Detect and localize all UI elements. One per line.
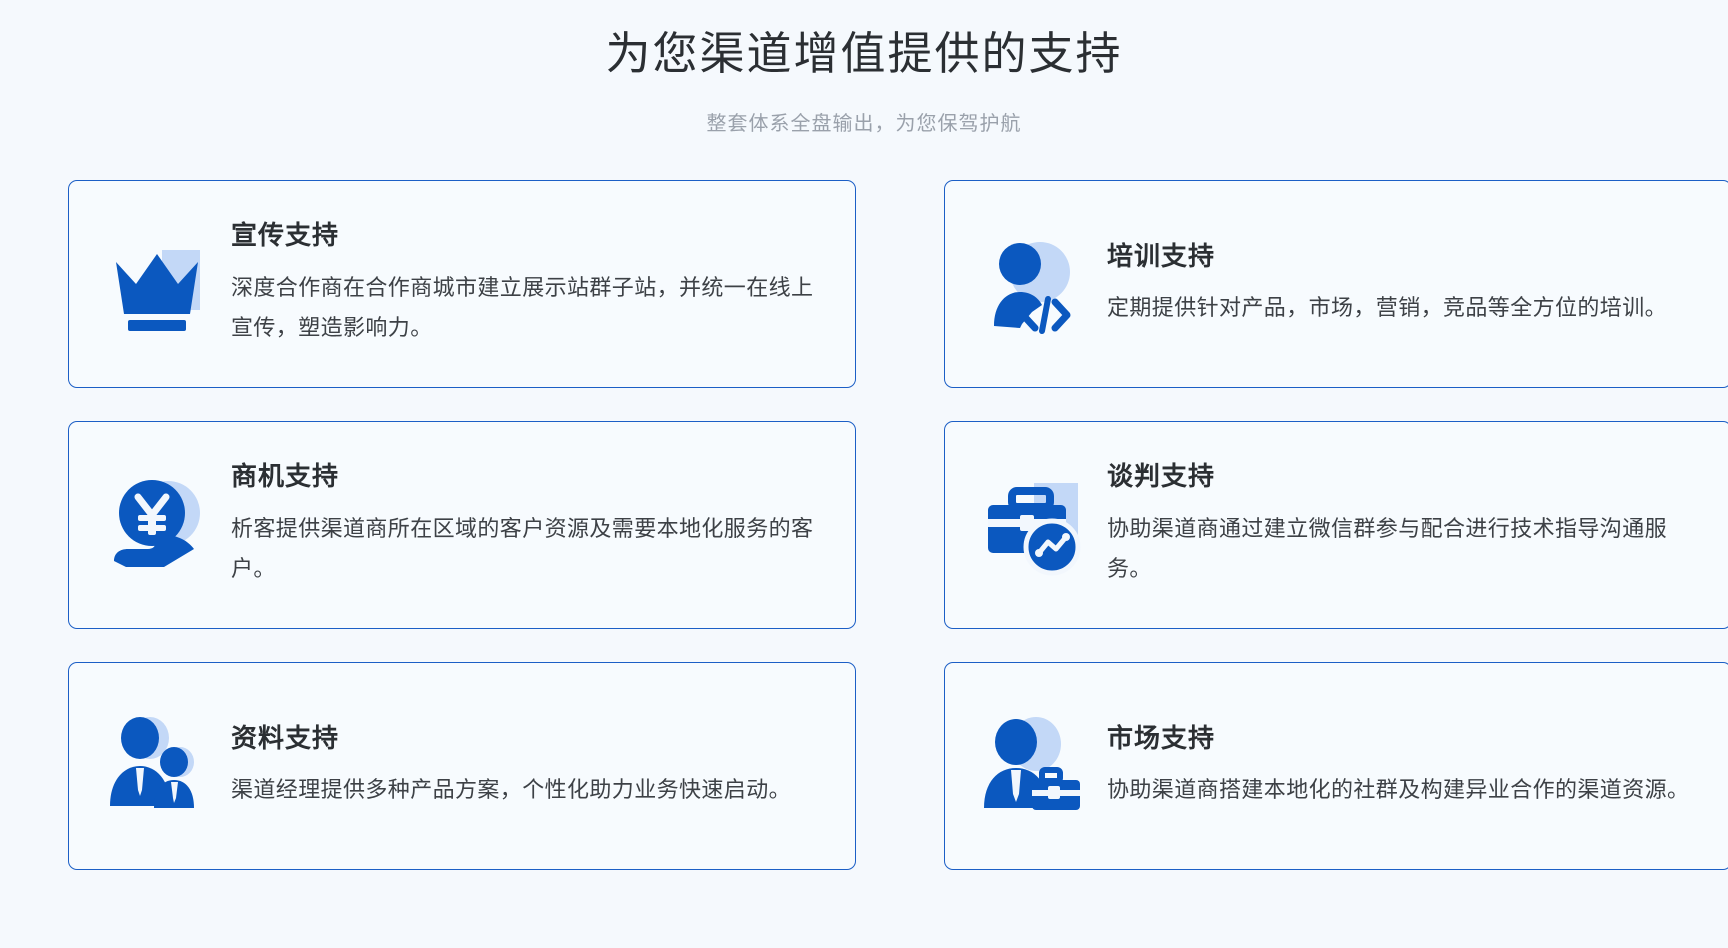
page-title: 为您渠道增值提供的支持 (0, 24, 1728, 85)
card-title: 宣传支持 (231, 220, 829, 251)
card-description: 协助渠道商搭建本地化的社群及构建异业合作的渠道资源。 (1107, 770, 1705, 811)
page-subtitle: 整套体系全盘输出，为您保驾护航 (0, 107, 1728, 136)
hand-yen-icon (99, 466, 217, 584)
support-card-negotiation[interactable]: 谈判支持 协助渠道商通过建立微信群参与配合进行技术指导沟通服务。 (944, 421, 1728, 629)
card-description: 协助渠道商通过建立微信群参与配合进行技术指导沟通服务。 (1107, 509, 1705, 590)
card-title: 市场支持 (1107, 723, 1705, 754)
support-card-market[interactable]: 市场支持 协助渠道商搭建本地化的社群及构建异业合作的渠道资源。 (944, 662, 1728, 870)
support-card-publicity[interactable]: 宣传支持 深度合作商在合作商城市建立展示站群子站，并统一在线上宣传，塑造影响力。 (68, 180, 856, 388)
card-body: 谈判支持 协助渠道商通过建立微信群参与配合进行技术指导沟通服务。 (1107, 459, 1705, 590)
card-body: 市场支持 协助渠道商搭建本地化的社群及构建异业合作的渠道资源。 (1107, 721, 1705, 811)
card-body: 商机支持 析客提供渠道商所在区域的客户资源及需要本地化服务的客户。 (231, 459, 829, 590)
card-description: 定期提供针对产品，市场，营销，竞品等全方位的培训。 (1107, 288, 1705, 329)
card-title: 资料支持 (231, 723, 829, 754)
person-briefcase-icon (975, 707, 1093, 825)
support-card-training[interactable]: 培训支持 定期提供针对产品，市场，营销，竞品等全方位的培训。 (944, 180, 1728, 388)
card-body: 培训支持 定期提供针对产品，市场，营销，竞品等全方位的培训。 (1107, 239, 1705, 329)
card-body: 资料支持 渠道经理提供多种产品方案，个性化助力业务快速启动。 (231, 721, 829, 811)
section-header: 为您渠道增值提供的支持 整套体系全盘输出，为您保驾护航 (0, 0, 1728, 136)
card-description: 析客提供渠道商所在区域的客户资源及需要本地化服务的客户。 (231, 509, 829, 590)
card-title: 谈判支持 (1107, 461, 1705, 492)
card-title: 商机支持 (231, 461, 829, 492)
card-body: 宣传支持 深度合作商在合作商城市建立展示站群子站，并统一在线上宣传，塑造影响力。 (231, 218, 829, 349)
two-people-icon (99, 707, 217, 825)
card-description: 渠道经理提供多种产品方案，个性化助力业务快速启动。 (231, 770, 829, 811)
card-title: 培训支持 (1107, 241, 1705, 272)
support-cards-grid: 宣传支持 深度合作商在合作商城市建立展示站群子站，并统一在线上宣传，塑造影响力。… (32, 180, 1696, 870)
person-code-icon (975, 225, 1093, 343)
support-card-materials[interactable]: 资料支持 渠道经理提供多种产品方案，个性化助力业务快速启动。 (68, 662, 856, 870)
support-card-opportunity[interactable]: 商机支持 析客提供渠道商所在区域的客户资源及需要本地化服务的客户。 (68, 421, 856, 629)
card-description: 深度合作商在合作商城市建立展示站群子站，并统一在线上宣传，塑造影响力。 (231, 268, 829, 349)
support-section-page: 为您渠道增值提供的支持 整套体系全盘输出，为您保驾护航 宣传支持 深度合作商在合… (0, 0, 1728, 948)
briefcase-chart-icon (975, 466, 1093, 584)
crown-icon (99, 225, 217, 343)
